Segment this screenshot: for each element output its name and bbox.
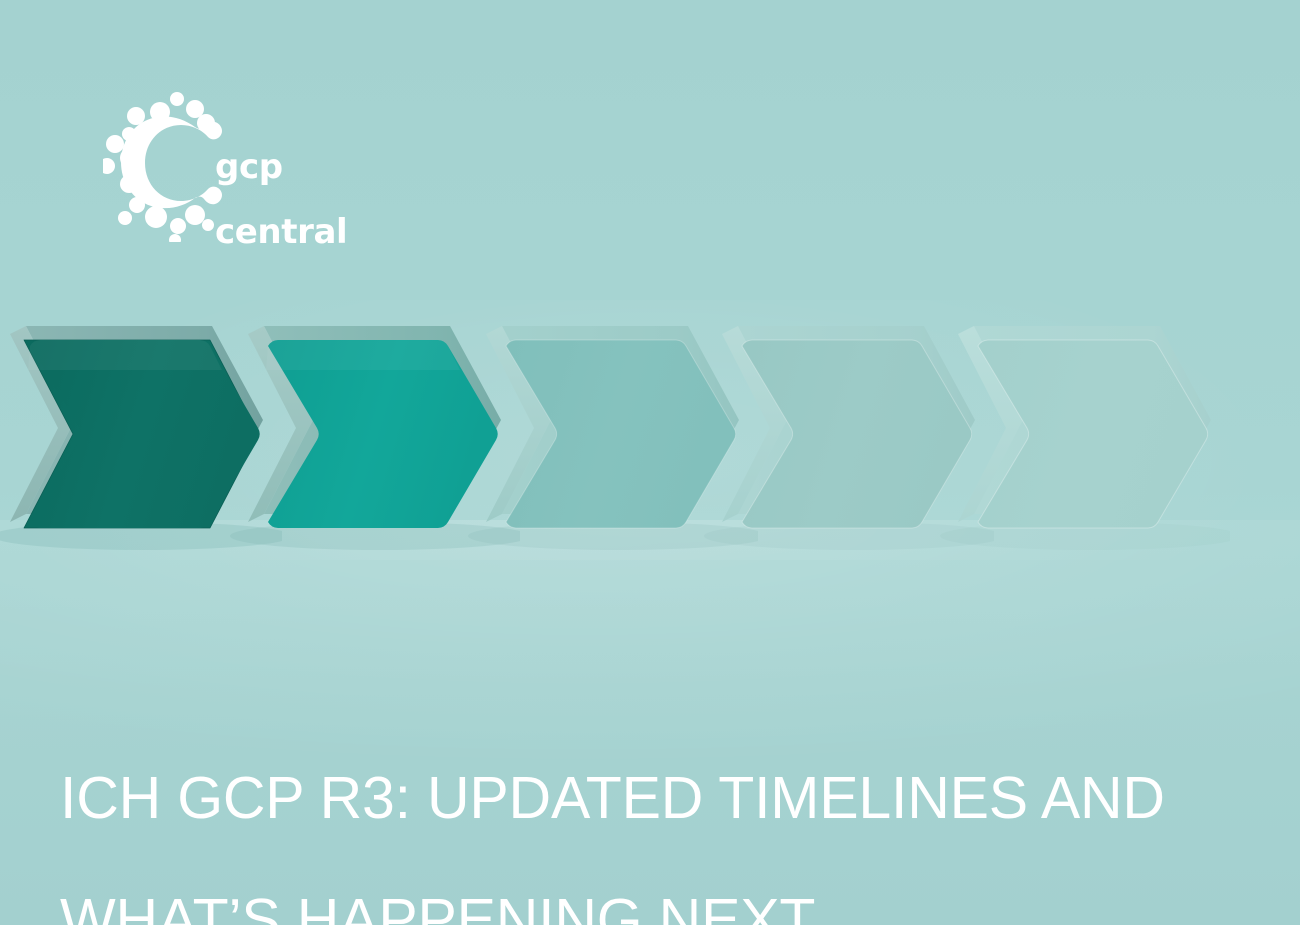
brand-logo-line-1: gcp	[215, 151, 347, 184]
gcp-central-c-dots-logo-icon	[103, 92, 228, 242]
brand-logo[interactable]: gcp central	[103, 92, 343, 242]
brand-logo-line-2: central	[215, 216, 347, 249]
banner-slide: gcp central	[0, 0, 1300, 925]
brand-logo-wordmark: gcp central	[215, 118, 347, 281]
page-title: ICH GCP R3: UPDATED TIMELINES AND WHAT’S…	[60, 708, 1180, 925]
page-title-line-1: ICH GCP R3: UPDATED TIMELINES AND	[60, 765, 1165, 831]
page-title-line-2: WHAT’S HAPPENING NEXT	[60, 887, 815, 925]
chevron-progress-row	[0, 300, 1300, 580]
chevron-step-1[interactable]	[0, 300, 282, 580]
